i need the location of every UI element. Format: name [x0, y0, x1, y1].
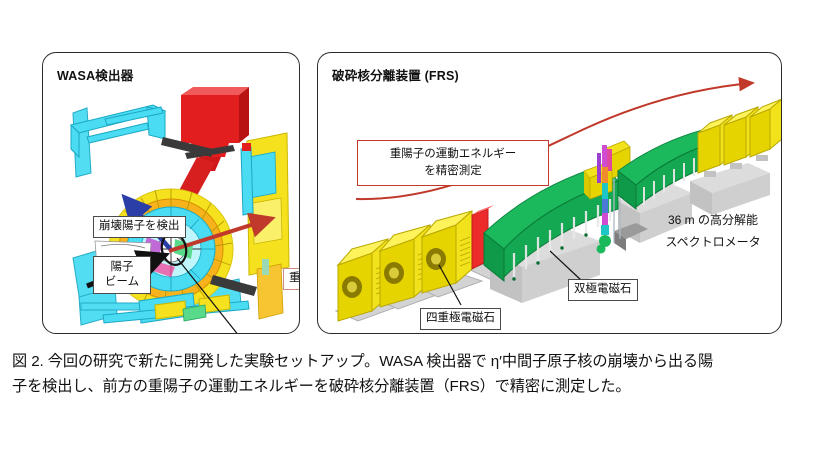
panel-title-wasa: WASA検出器	[57, 65, 133, 84]
label-spectrometer-line1: 36 m の高分解能	[668, 213, 758, 227]
label-kinetic-energy-line2: を精密測定	[424, 165, 482, 177]
label-quadrupole-magnet: 四重極電磁石	[420, 308, 501, 330]
quadrupole-leader	[439, 265, 461, 305]
wasa-arrow-overlay	[43, 53, 300, 334]
label-kinetic-energy: 重陽子の運動エネルギー を精密測定	[357, 140, 549, 186]
label-dipole-magnet: 双極電磁石	[568, 279, 638, 301]
figure-caption: 図 2. 今回の研究で新たに開発した実験セットアップ。WASA 検出器で η′中…	[12, 350, 808, 399]
panel-wasa-detector: WASA検出器 崩壊陽子を検出 陽子 ビーム 重陽子 炭素標的	[42, 52, 300, 334]
label-kinetic-energy-line1: 重陽子の運動エネルギー	[390, 148, 517, 160]
caption-line-1: 図 2. 今回の研究で新たに開発した実験セットアップ。WASA 検出器で η′中…	[12, 350, 808, 375]
caption-line-2: 子を検出し、前方の重陽子の運動エネルギーを破砕核分離装置（FRS）で精密に測定し…	[12, 375, 808, 400]
frs-leader-lines	[318, 53, 782, 334]
label-proton-beam-line2: ビーム	[105, 276, 139, 288]
panel-title-frs: 破砕核分離装置 (FRS)	[332, 65, 459, 84]
carbon-target-leader	[177, 258, 251, 334]
dipole-leader	[550, 251, 582, 281]
figure-area: WASA検出器 崩壊陽子を検出 陽子 ビーム 重陽子 炭素標的	[0, 0, 818, 345]
label-deuteron: 重陽子	[283, 268, 300, 290]
label-proton-beam-line1: 陽子	[111, 261, 134, 273]
label-detect-decay-proton: 崩壊陽子を検出	[93, 216, 186, 238]
label-spectrometer-line2: スペクトロメータ	[665, 235, 760, 249]
label-spectrometer: 36 m の高分解能 スペクトロメータ	[648, 208, 778, 256]
label-proton-beam: 陽子 ビーム	[93, 256, 151, 294]
panel-frs-separator: 破砕核分離装置 (FRS)	[317, 52, 782, 334]
